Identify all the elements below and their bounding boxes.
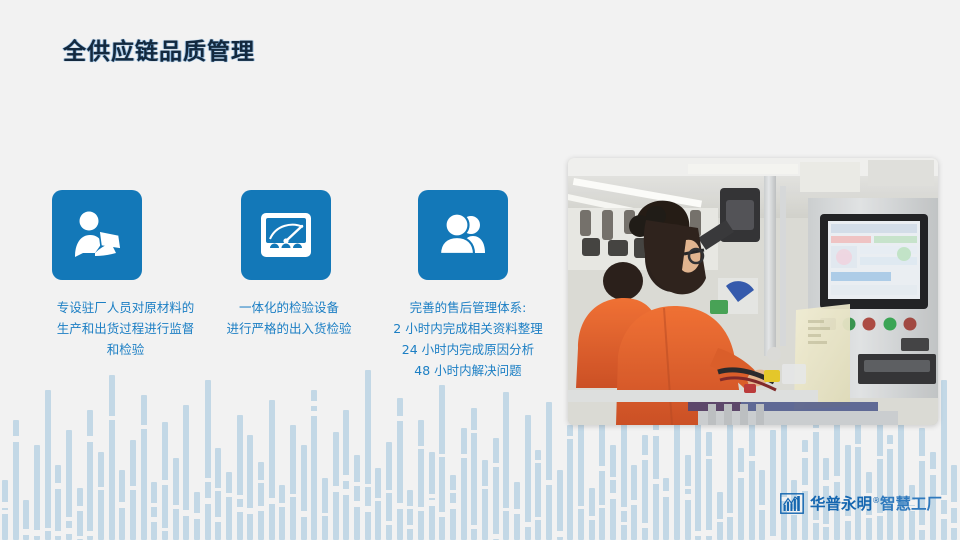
decor-bar-gap: [439, 512, 445, 517]
decor-bar-gap: [653, 479, 659, 484]
decor-bar: [109, 375, 115, 540]
decor-bar-gap: [738, 472, 744, 478]
decor-bar: [493, 438, 499, 540]
decor-bar: [471, 408, 477, 540]
decor-bar-gap: [77, 536, 83, 539]
decor-bar-gap: [194, 513, 200, 519]
decor-bar-gap: [546, 480, 552, 485]
decor-bar-gap: [685, 494, 691, 500]
decor-bar-gap: [589, 516, 595, 520]
decor-bar: [727, 418, 733, 540]
decor-bar-gap: [365, 506, 371, 512]
decor-bar-gap: [354, 501, 360, 507]
decor-bar-gap: [727, 513, 733, 517]
decor-bar-gap: [418, 446, 424, 449]
decor-bar-gap: [578, 506, 584, 509]
decor-bar-gap: [269, 498, 275, 504]
decor-bar-gap: [621, 522, 627, 525]
decor-bar-gap: [866, 515, 872, 518]
decor-bar-gap: [343, 489, 349, 495]
decor-bar-gap: [397, 416, 403, 421]
decor-bar-gap: [557, 534, 563, 537]
decor-bar: [653, 422, 659, 540]
decor-bar: [311, 390, 317, 540]
decor-bar: [151, 482, 157, 540]
decor-bar: [13, 420, 19, 540]
decor-bar-gap: [365, 484, 371, 487]
decor-bar: [365, 370, 371, 540]
decor-bar: [173, 458, 179, 540]
decor-bar-gap: [2, 510, 8, 514]
decor-bar-gap: [599, 466, 605, 471]
decor-bar-gap: [493, 534, 499, 539]
decor-bar: [375, 468, 381, 540]
decor-bar-gap: [386, 490, 392, 493]
decor-bar-gap: [845, 516, 851, 521]
decor-bar-gap: [471, 430, 477, 433]
decor-bar: [759, 470, 765, 540]
decor-bar: [183, 405, 189, 540]
decor-bar-gap: [951, 502, 957, 508]
brand-logo: 华普永明®智慧工厂: [780, 492, 942, 514]
decor-bar-gap: [87, 531, 93, 536]
slide-root: 全供应链品质管理 专设驻厂人员对原材料的 生产和出货过程进行监督 和检验: [0, 0, 960, 540]
decor-bar-gap: [877, 456, 883, 459]
decor-bar-gap: [663, 491, 669, 495]
decor-bar: [919, 428, 925, 540]
decor-bar-gap: [514, 509, 520, 514]
logo-brand: 华普永明: [810, 495, 872, 513]
decor-bar-gap: [45, 528, 51, 531]
decor-bar-gap: [205, 478, 211, 482]
decor-bar-gap: [525, 522, 531, 527]
decor-bar-gap: [535, 460, 541, 463]
decor-bar-gap: [706, 530, 712, 536]
decor-bar-gap: [237, 507, 243, 512]
feature-caption: 完善的售后管理体系: 2 小时内完成相关资料整理 24 小时内完成原因分析 48…: [372, 297, 564, 381]
decor-bar: [2, 480, 8, 540]
decor-bar-gap: [23, 529, 29, 535]
decor-bar: [589, 488, 595, 540]
decor-bar-gap: [439, 454, 445, 457]
decor-bar: [642, 435, 648, 540]
decor-bar-gap: [407, 525, 413, 529]
decor-bar-gap: [226, 493, 232, 497]
decor-bar-gap: [642, 523, 648, 528]
decor-bar: [66, 430, 72, 540]
decor-bar-gap: [183, 510, 189, 516]
decor-bar: [877, 408, 883, 540]
person-inspector-icon: [52, 190, 142, 280]
decor-bar-gap: [162, 528, 168, 531]
decor-bar-gap: [951, 523, 957, 528]
decor-bar-gap: [301, 511, 307, 517]
decor-bar: [855, 422, 861, 540]
decor-bar-gap: [322, 513, 328, 516]
decor-bar-gap: [930, 469, 936, 475]
decor-bar: [951, 465, 957, 540]
decor-bar-gap: [66, 528, 72, 534]
decor-bar: [418, 420, 424, 540]
decor-bar-gap: [34, 530, 40, 536]
decor-bar: [887, 435, 893, 540]
decor-bar: [333, 432, 339, 540]
decor-bar: [599, 412, 605, 540]
decor-bar: [503, 392, 509, 540]
decor-bar-gap: [98, 487, 104, 490]
decor-bar-gap: [247, 508, 253, 514]
decor-bar-gap: [55, 483, 61, 489]
decor-bar-gap: [887, 444, 893, 449]
decor-bar-gap: [663, 492, 669, 497]
decor-bar: [941, 380, 947, 540]
bar-chart-logo-icon: [780, 493, 804, 514]
decor-bar: [194, 492, 200, 540]
decor-bar-gap: [631, 500, 637, 505]
decor-bar: [34, 445, 40, 540]
decor-bar-gap: [706, 456, 712, 459]
decor-bar-gap: [813, 520, 819, 523]
decor-bar: [695, 405, 701, 540]
decor-bar-gap: [450, 503, 456, 509]
decor-bar: [813, 412, 819, 540]
decor-bar: [141, 395, 147, 540]
factory-production-line-photo: [568, 158, 938, 425]
decor-bar-gap: [429, 494, 435, 498]
decor-bar-gap: [258, 480, 264, 483]
decor-bar-gap: [77, 506, 83, 511]
decor-bar-gap: [919, 525, 925, 530]
decor-bar-gap: [311, 411, 317, 416]
decor-bar-gap: [407, 506, 413, 509]
decor-bar-gap: [471, 525, 477, 529]
decor-bar: [631, 465, 637, 540]
decor-bar: [439, 385, 445, 540]
decor-bar: [567, 425, 573, 540]
decor-bar-gap: [823, 480, 829, 486]
decor-bar-gap: [141, 425, 147, 429]
decor-bar-gap: [397, 503, 403, 509]
decor-bar-gap: [311, 401, 317, 406]
decor-bar: [525, 415, 531, 540]
decor-bar: [450, 475, 456, 540]
decor-bar-gap: [258, 506, 264, 511]
decor-bar-gap: [802, 485, 808, 491]
decor-bar: [610, 445, 616, 540]
decor-bar: [482, 460, 488, 540]
decor-bar-gap: [119, 502, 125, 508]
decor-bar: [461, 428, 467, 540]
decor-bar-gap: [610, 493, 616, 499]
decor-bar: [546, 402, 552, 540]
decor-bar-gap: [13, 436, 19, 442]
decor-bar: [87, 410, 93, 540]
decor-bar: [23, 500, 29, 540]
decor-bar-gap: [173, 505, 179, 509]
decor-bar-gap: [759, 505, 765, 510]
decor-bar: [45, 390, 51, 540]
decor-bar-gap: [834, 476, 840, 482]
users-people-icon: [418, 190, 508, 280]
decor-bar-gap: [290, 494, 296, 497]
decor-bar: [770, 430, 776, 540]
decor-bar-gap: [386, 521, 392, 525]
decor-bar-gap: [535, 517, 541, 520]
decor-bar: [717, 492, 723, 540]
feature-caption: 一体化的检验设备 进行严格的出入货检验: [209, 297, 369, 339]
decor-bar-gap: [333, 486, 339, 492]
feature-caption: 专设驻厂人员对原材料的 生产和出货过程进行监督 和检验: [38, 297, 213, 360]
decor-bar-gap: [919, 456, 925, 461]
decor-bar-gap: [941, 514, 947, 519]
decor-bar: [205, 380, 211, 540]
decor-bar-gap: [215, 488, 221, 491]
decor-bar-gap: [599, 505, 605, 508]
decor-bar-gap: [749, 456, 755, 461]
decor-bar: [514, 482, 520, 540]
feature-item-inspection[interactable]: 专设驻厂人员对原材料的 生产和出货过程进行监督 和检验: [22, 190, 218, 360]
decor-bar: [322, 478, 328, 540]
decor-bar-gap: [685, 486, 691, 489]
decor-bar: [269, 400, 275, 540]
page-title: 全供应链品质管理: [63, 32, 255, 66]
decor-bar: [557, 470, 563, 540]
decor-bar: [119, 470, 125, 540]
decor-bar-gap: [343, 475, 349, 481]
decor-bar: [258, 462, 264, 540]
decor-bar-gap: [653, 430, 659, 436]
decor-bar-gap: [162, 480, 168, 485]
decor-bar: [397, 398, 403, 540]
decor-bar-gap: [567, 436, 573, 439]
decor-bar: [407, 490, 413, 540]
decor-bar: [663, 478, 669, 540]
decor-bar-gap: [205, 498, 211, 504]
decor-bar-gap: [823, 524, 829, 527]
decor-bar-gap: [493, 463, 499, 467]
logo-sub: 智慧工厂: [880, 495, 942, 513]
decor-bar-gap: [418, 507, 424, 511]
decor-bar: [226, 472, 232, 540]
decor-bar-gap: [237, 495, 243, 499]
decor-bar: [130, 440, 136, 540]
decor-bar-gap: [2, 502, 8, 508]
decor-bar-gap: [610, 477, 616, 480]
decor-bar-gap: [66, 517, 72, 521]
decor-bar-gap: [813, 428, 819, 432]
decor-bar-gap: [802, 452, 808, 458]
decor-bar: [354, 455, 360, 540]
decor-bar-gap: [109, 416, 115, 420]
feature-item-after-sales[interactable]: 完善的售后管理体系: 2 小时内完成相关资料整理 24 小时内完成原因分析 48…: [372, 190, 564, 381]
decor-bar-gap: [279, 503, 285, 507]
decor-bar-gap: [695, 531, 701, 536]
decor-bar-gap: [770, 536, 776, 540]
decor-bar-gap: [450, 490, 456, 493]
decor-bar: [162, 422, 168, 540]
feature-list: 专设驻厂人员对原材料的 生产和出货过程进行监督 和检验 一体化: [0, 190, 565, 390]
decor-bar: [386, 442, 392, 540]
decor-bar-gap: [87, 436, 93, 442]
decor-bar-gap: [621, 507, 627, 511]
decor-bar-gap: [429, 500, 435, 506]
decor-bar: [706, 432, 712, 540]
decor-bar-gap: [503, 508, 509, 511]
decor-bar-gap: [151, 517, 157, 522]
decor-bar-gap: [151, 503, 157, 507]
decor-bar-gap: [55, 531, 61, 536]
decor-bar-gap: [717, 519, 723, 522]
decor-bar: [279, 485, 285, 540]
decor-bar-gap: [642, 455, 648, 460]
decor-bar: [429, 452, 435, 540]
decor-bar-gap: [375, 498, 381, 501]
decor-bar: [343, 410, 349, 540]
decor-bar: [55, 465, 61, 540]
decor-bar: [77, 488, 83, 540]
decor-bar: [247, 435, 253, 540]
decor-bar: [215, 448, 221, 540]
decor-bar: [98, 452, 104, 540]
decor-bar-gap: [557, 531, 563, 534]
feature-item-testing-equipment[interactable]: 一体化的检验设备 进行严格的出入货检验: [205, 190, 365, 339]
decor-bar: [738, 448, 744, 540]
decor-bar: [301, 445, 307, 540]
decor-bar: [535, 450, 541, 540]
logo-text: 华普永明®智慧工厂: [810, 492, 942, 514]
decor-bar: [685, 455, 691, 540]
decor-bar-gap: [855, 444, 861, 447]
decor-bar-gap: [461, 454, 467, 458]
decor-bar-gap: [215, 517, 221, 522]
decor-bar-gap: [482, 486, 488, 489]
decor-bar: [802, 440, 808, 540]
decor-bar-gap: [130, 486, 136, 490]
decor-bar: [290, 425, 296, 540]
logo-registered: ®: [872, 496, 880, 505]
decor-bar-gap: [354, 482, 360, 486]
gauge-meter-icon: [241, 190, 331, 280]
decor-bar: [237, 415, 243, 540]
